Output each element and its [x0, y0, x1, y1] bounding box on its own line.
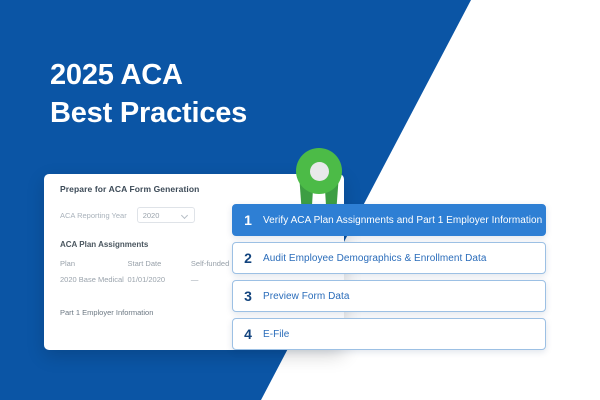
- step-item-1[interactable]: 1 Verify ACA Plan Assignments and Part 1…: [232, 204, 546, 236]
- plan-assignments-label: ACA Plan Assignments: [60, 240, 148, 249]
- column-header-start-date: Start Date: [128, 256, 191, 275]
- reporting-year-label: ACA Reporting Year: [60, 211, 127, 220]
- step-label-3: Preview Form Data: [263, 291, 349, 302]
- column-header-plan: Plan: [60, 256, 128, 275]
- step-item-2[interactable]: 2 Audit Employee Demographics & Enrollme…: [232, 242, 546, 274]
- reporting-year-field: ACA Reporting Year 2020: [60, 207, 195, 223]
- step-item-4[interactable]: 4 E-File: [232, 318, 546, 350]
- best-practices-step-list: 1 Verify ACA Plan Assignments and Part 1…: [232, 204, 546, 356]
- part1-employer-information-label: Part 1 Employer Information: [60, 308, 153, 317]
- step-label-1: Verify ACA Plan Assignments and Part 1 E…: [263, 215, 542, 226]
- reporting-year-select[interactable]: 2020: [137, 207, 195, 223]
- step-number-2: 2: [233, 250, 263, 266]
- card-title: Prepare for ACA Form Generation: [60, 184, 199, 194]
- cell-plan: 2020 Base Medical: [60, 275, 128, 286]
- ribbon-medal: [296, 148, 342, 194]
- step-label-4: E-File: [263, 329, 289, 340]
- ribbon-medal-center: [310, 162, 329, 181]
- page-title: 2025 ACA Best Practices: [50, 56, 247, 133]
- step-number-4: 4: [233, 326, 263, 342]
- promo-banner: 2025 ACA Best Practices Prepare for ACA …: [0, 0, 600, 400]
- step-number-3: 3: [233, 288, 263, 304]
- chevron-down-icon: [182, 212, 189, 219]
- step-label-2: Audit Employee Demographics & Enrollment…: [263, 253, 486, 264]
- cell-start-date: 01/01/2020: [128, 275, 191, 286]
- reporting-year-value: 2020: [143, 211, 160, 220]
- step-item-3[interactable]: 3 Preview Form Data: [232, 280, 546, 312]
- step-number-1: 1: [233, 212, 263, 228]
